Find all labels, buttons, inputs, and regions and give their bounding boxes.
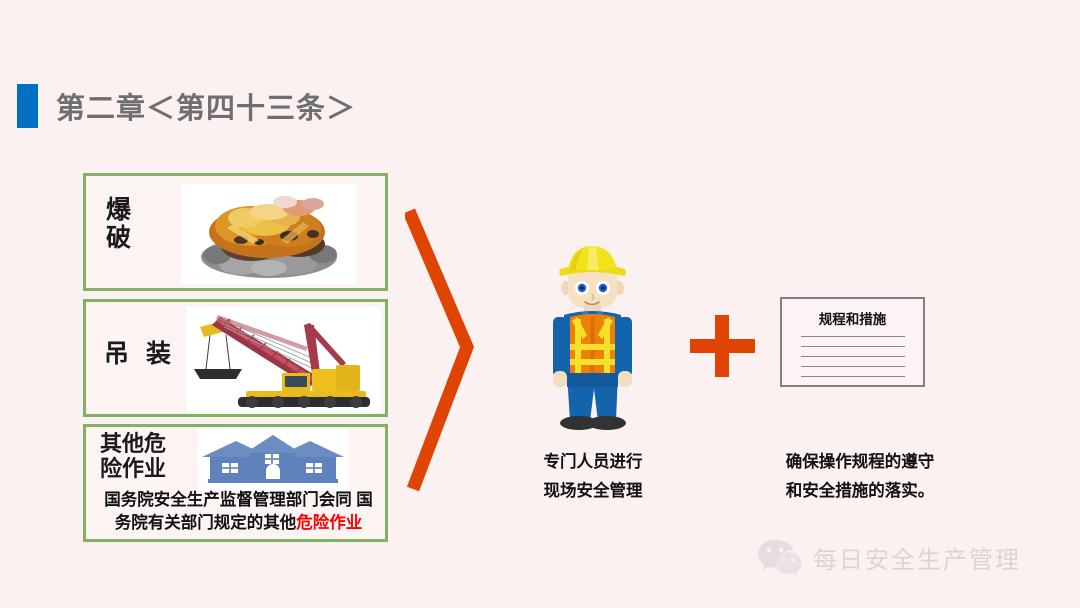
hazard-other-caption-line2: 务院有关部门规定的其他危险作业	[92, 512, 385, 535]
blue-house-art	[198, 429, 348, 491]
crawler-crane-art	[186, 307, 381, 413]
hazard-box-hoisting[interactable]: 吊 装	[83, 299, 388, 417]
hazard-box-blasting[interactable]: 爆 破	[83, 173, 388, 291]
worker-caption-line1: 专门人员进行	[498, 448, 688, 477]
crawler-crane-photo	[186, 307, 381, 413]
doc-line	[801, 366, 905, 367]
slide-canvas: 第二章＜第四十三条＞ 爆 破	[0, 0, 1080, 608]
worker-caption-line2: 现场安全管理	[498, 477, 688, 506]
hazard-label-other-line1: 其他危	[100, 432, 166, 457]
wechat-icon	[757, 538, 803, 576]
hazard-box-hoisting-inner: 吊 装	[86, 302, 385, 414]
doc-line	[801, 346, 905, 347]
explosion-photo-art	[181, 184, 356, 284]
document-caption-line1: 确保操作规程的遵守	[735, 448, 985, 477]
doc-line	[801, 376, 905, 377]
document-caption: 确保操作规程的遵守 和安全措施的落实。	[735, 448, 985, 506]
blue-house-icon	[198, 429, 348, 491]
orange-chevron-arrow-art	[405, 205, 495, 495]
hazard-box-blasting-inner: 爆 破	[86, 176, 385, 288]
hazard-box-other[interactable]: 其他危 险作业	[83, 424, 388, 542]
title-accent-bar	[17, 84, 38, 128]
hazard-other-caption-highlight: 危险作业	[296, 514, 362, 532]
hazard-label-other-line2: 险作业	[100, 457, 166, 482]
doc-line	[801, 356, 905, 357]
doc-title: 规程和措施	[782, 308, 923, 328]
page-title: 第二章＜第四十三条＞	[17, 83, 356, 129]
doc-line	[801, 336, 905, 337]
plus-sign-vertical	[715, 315, 729, 377]
watermark: 每日安全生产管理	[757, 538, 1021, 576]
explosion-photo	[181, 184, 356, 284]
hazard-other-caption: 国务院安全生产监督管理部门会同 国 务院有关部门规定的其他危险作业	[92, 489, 385, 536]
hazard-label-blasting-line2: 破	[106, 224, 131, 252]
hazard-other-caption-line2-plain: 务院有关部门规定的其他	[115, 514, 297, 532]
construction-worker-art	[520, 243, 665, 438]
hazard-label-blasting: 爆 破	[106, 196, 131, 252]
orange-chevron-arrow	[405, 205, 495, 495]
hazard-label-other: 其他危 险作业	[100, 432, 166, 481]
document-caption-line2: 和安全措施的落实。	[735, 477, 985, 506]
plus-sign	[690, 315, 755, 377]
doc-lines	[801, 336, 905, 377]
worker-caption: 专门人员进行 现场安全管理	[498, 448, 688, 506]
hazard-other-caption-line1: 国务院安全生产监督管理部门会同 国	[92, 489, 385, 512]
hazard-label-blasting-line1: 爆	[106, 196, 131, 224]
procedures-and-measures-card[interactable]: 规程和措施	[780, 297, 925, 387]
hazard-label-hoisting: 吊 装	[104, 340, 176, 368]
watermark-text: 每日安全生产管理	[813, 540, 1021, 575]
construction-worker-illustration	[520, 243, 665, 438]
hazard-box-other-inner: 其他危 险作业	[86, 427, 385, 539]
title-text: 第二章＜第四十三条＞	[56, 85, 356, 127]
